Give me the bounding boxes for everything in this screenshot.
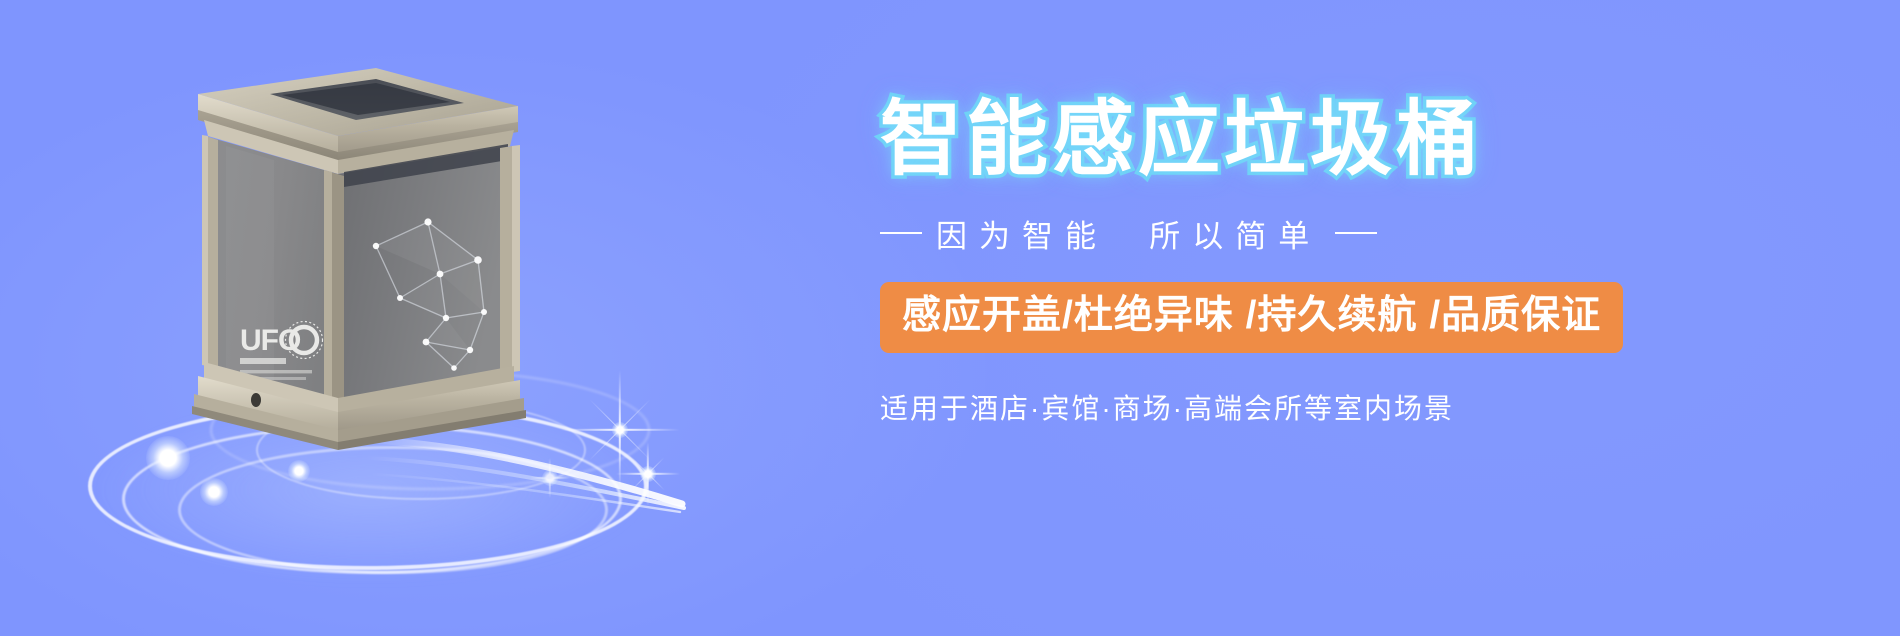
trash-bin-illustration: UFO bbox=[178, 50, 538, 450]
product-banner: UFO 智 bbox=[0, 0, 1900, 636]
ufo-brand-logo: UFO bbox=[240, 322, 323, 381]
rule-right bbox=[1335, 232, 1377, 234]
light-orb bbox=[200, 478, 228, 506]
usage-caption: 适用于酒店·宾馆·商场·高端会所等室内场景 bbox=[880, 387, 1840, 427]
copy-block: 智能感应垃圾桶 因为智能 所以简单 感应开盖/杜绝异味 /持久续航 /品质保证 … bbox=[880, 96, 1840, 427]
feature-badge: 感应开盖/杜绝异味 /持久续航 /品质保证 bbox=[880, 282, 1623, 353]
product-stage: UFO bbox=[60, 20, 760, 620]
subtitle-text: 因为智能 所以简单 bbox=[936, 211, 1321, 256]
rule-left bbox=[880, 232, 922, 234]
subtitle: 因为智能 所以简单 bbox=[880, 211, 1840, 256]
page-title: 智能感应垃圾桶 bbox=[880, 96, 1840, 185]
light-orb bbox=[288, 460, 310, 482]
